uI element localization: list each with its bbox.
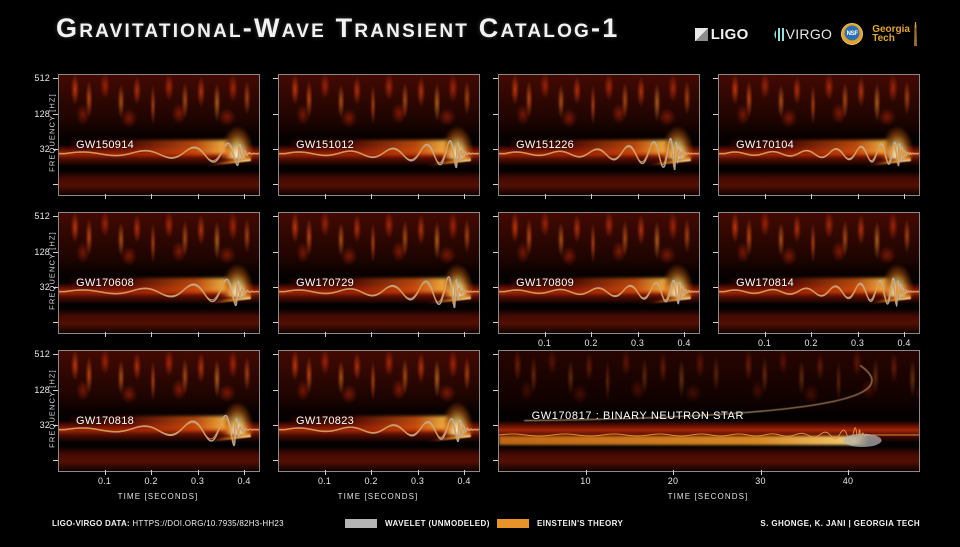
georgia-tech-logo-text: Georgia Tech xyxy=(872,25,910,44)
x-tick-mark xyxy=(244,470,245,475)
y-tick-mark xyxy=(713,78,718,79)
x-tick-label: 0.4 xyxy=(677,338,690,348)
y-tick-mark xyxy=(713,184,718,185)
x-tick-label: 0.1 xyxy=(538,338,551,348)
x-tick-mark xyxy=(371,332,372,337)
x-tick-label: 20 xyxy=(668,476,678,486)
legend-item-wavelet: WAVELET (UNMODELED) xyxy=(345,519,490,528)
x-tick-mark xyxy=(684,194,685,199)
spectrogram-panel-gw150914[interactable]: 51212832GW150914FREQUENCY [HZ] xyxy=(58,74,258,194)
ligo-square-icon xyxy=(695,28,708,41)
x-tick-mark xyxy=(198,194,199,199)
x-tick-mark xyxy=(464,194,465,199)
x-tick-mark xyxy=(545,194,546,199)
legend-label-theory: EINSTEIN'S THEORY xyxy=(537,519,623,528)
x-tick-label: 0.1 xyxy=(318,476,331,486)
y-tick-mark xyxy=(493,354,498,355)
legend-label-wavelet: WAVELET (UNMODELED) xyxy=(385,519,490,528)
spectrogram-panel-gw170104[interactable]: GW170104 xyxy=(718,74,918,194)
y-tick-mark xyxy=(53,460,58,461)
x-tick-mark xyxy=(765,194,766,199)
virgo-logo: VIRGO xyxy=(758,27,833,41)
y-axis-title: FREQUENCY [HZ] xyxy=(48,359,57,459)
plot-area xyxy=(498,212,700,334)
waveform-overlay xyxy=(279,213,479,333)
y-tick-mark xyxy=(713,114,718,115)
event-label: GW170818 xyxy=(76,415,134,427)
x-tick-label: 40 xyxy=(843,476,853,486)
x-tick-mark xyxy=(198,470,199,475)
waveform-overlay xyxy=(719,213,919,333)
y-tick-mark xyxy=(493,149,498,150)
y-tick-mark xyxy=(493,114,498,115)
x-axis-title: TIME [SECONDS] xyxy=(498,492,918,501)
data-credit-url[interactable]: HTTPS://DOI.ORG/10.7935/82H3-HH23 xyxy=(132,519,283,528)
event-label: GW170814 xyxy=(736,277,794,289)
y-tick-mark xyxy=(273,114,278,115)
y-tick-mark xyxy=(713,216,718,217)
x-tick-mark xyxy=(371,194,372,199)
y-tick-mark xyxy=(713,252,718,253)
plot-area xyxy=(278,350,480,472)
spectrogram-panel-gw170809[interactable]: 0.10.20.30.4GW170809 xyxy=(498,212,698,332)
x-tick-mark xyxy=(151,470,152,475)
waveform-overlay xyxy=(499,75,699,195)
georgia-tech-logo: Georgia Tech xyxy=(872,22,918,46)
x-tick-mark xyxy=(673,470,674,475)
y-tick-mark xyxy=(493,425,498,426)
footer: LIGO-VIRGO DATA: HTTPS://DOI.ORG/10.7935… xyxy=(0,506,960,547)
x-tick-label: 0.1 xyxy=(758,338,771,348)
x-tick-mark xyxy=(105,332,106,337)
y-tick-mark xyxy=(273,216,278,217)
y-tick-mark xyxy=(273,390,278,391)
waveform-overlay xyxy=(279,75,479,195)
spectrogram-panel-gw170608[interactable]: 51212832GW170608FREQUENCY [HZ] xyxy=(58,212,258,332)
ligo-logo-text: LIGO xyxy=(711,27,749,42)
plot-area xyxy=(278,212,480,334)
x-tick-mark xyxy=(858,332,859,337)
x-tick-mark xyxy=(151,194,152,199)
y-tick-mark xyxy=(53,216,58,217)
y-tick-mark xyxy=(273,78,278,79)
y-tick-mark xyxy=(273,252,278,253)
x-tick-label: 0.2 xyxy=(584,338,597,348)
x-tick-mark xyxy=(464,332,465,337)
y-tick-mark xyxy=(493,216,498,217)
event-label: GW170608 xyxy=(76,277,134,289)
x-tick-mark xyxy=(105,470,106,475)
event-label: GW170809 xyxy=(516,277,574,289)
plot-area xyxy=(498,74,700,196)
x-tick-mark xyxy=(811,332,812,337)
virgo-waves-icon xyxy=(758,28,784,41)
y-tick-mark xyxy=(493,460,498,461)
waveform-overlay xyxy=(59,75,259,195)
x-tick-mark xyxy=(325,332,326,337)
y-tick-mark xyxy=(493,78,498,79)
waveform-overlay xyxy=(279,351,479,471)
event-label: GW150914 xyxy=(76,139,134,151)
y-tick-mark xyxy=(273,149,278,150)
x-tick-mark xyxy=(591,332,592,337)
x-tick-label: 0.1 xyxy=(98,476,111,486)
x-tick-mark xyxy=(904,332,905,337)
spectrogram-panel-gw170818[interactable]: 512128320.10.20.30.4GW170818FREQUENCY [H… xyxy=(58,350,258,470)
event-label: GW170729 xyxy=(296,277,354,289)
y-tick-mark xyxy=(273,354,278,355)
x-tick-mark xyxy=(371,470,372,475)
legend-item-theory: EINSTEIN'S THEORY xyxy=(497,519,623,528)
x-tick-mark xyxy=(105,194,106,199)
x-axis-title: TIME [SECONDS] xyxy=(58,492,258,501)
event-label: GW170104 xyxy=(736,139,794,151)
y-tick-mark xyxy=(53,184,58,185)
x-tick-mark xyxy=(325,470,326,475)
author-credit: S. GHONGE, K. JANI | GEORGIA TECH xyxy=(760,519,920,528)
spectrogram-panel-gw170823[interactable]: 0.10.20.30.4GW170823TIME [SECONDS] xyxy=(278,350,478,470)
x-tick-mark xyxy=(545,332,546,337)
event-label: GW170817 : BINARY NEUTRON STAR xyxy=(532,410,744,422)
header: Gravitational-Wave Transient Catalog-1 L… xyxy=(0,0,960,62)
plot-area xyxy=(58,212,260,334)
x-tick-mark xyxy=(638,194,639,199)
x-tick-label: 0.3 xyxy=(851,338,864,348)
legend-swatch-theory xyxy=(497,519,529,528)
x-tick-label: 0.2 xyxy=(804,338,817,348)
spectrogram-panel-gw151226[interactable]: GW151226 xyxy=(498,74,698,194)
x-tick-label: 0.3 xyxy=(411,476,424,486)
x-tick-mark xyxy=(638,332,639,337)
spectrogram-grid: 51212832GW150914FREQUENCY [HZ]GW151012GW… xyxy=(0,62,960,506)
x-tick-mark xyxy=(811,194,812,199)
x-tick-label: 0.3 xyxy=(191,476,204,486)
x-tick-mark xyxy=(858,194,859,199)
plot-area xyxy=(58,74,260,196)
x-tick-label: 0.3 xyxy=(631,338,644,348)
y-tick-mark xyxy=(713,149,718,150)
y-tick-mark xyxy=(273,184,278,185)
waveform-overlay xyxy=(719,75,919,195)
x-tick-mark xyxy=(904,194,905,199)
data-credit: LIGO-VIRGO DATA: HTTPS://DOI.ORG/10.7935… xyxy=(52,519,284,528)
y-tick-mark xyxy=(493,322,498,323)
y-tick-mark xyxy=(53,78,58,79)
y-tick-mark xyxy=(273,287,278,288)
x-tick-mark xyxy=(464,470,465,475)
legend-swatch-wavelet xyxy=(345,519,377,528)
y-axis-title: FREQUENCY [HZ] xyxy=(48,221,57,321)
x-tick-mark xyxy=(765,332,766,337)
plot-area xyxy=(718,212,920,334)
y-tick-mark xyxy=(273,425,278,426)
x-tick-label: 0.2 xyxy=(364,476,377,486)
waveform-overlay xyxy=(59,213,259,333)
virgo-logo-text: VIRGO xyxy=(786,27,833,41)
plot-area xyxy=(58,350,260,472)
y-tick-mark xyxy=(493,184,498,185)
y-tick-mark xyxy=(53,354,58,355)
x-tick-label: 0.4 xyxy=(897,338,910,348)
y-tick-mark xyxy=(273,322,278,323)
nsf-logo-text: NSF xyxy=(847,31,858,37)
spectrogram-panel-gw170729[interactable]: GW170729 xyxy=(278,212,478,332)
event-label: GW170823 xyxy=(296,415,354,427)
gt-tower-icon xyxy=(913,22,918,46)
x-tick-mark xyxy=(586,470,587,475)
plot-area xyxy=(718,74,920,196)
y-tick-mark xyxy=(493,287,498,288)
x-tick-mark xyxy=(244,332,245,337)
y-tick-mark xyxy=(53,322,58,323)
gt-line-2: Tech xyxy=(872,33,895,44)
x-tick-mark xyxy=(684,332,685,337)
nsf-logo-icon: NSF xyxy=(841,23,863,45)
y-tick-mark xyxy=(713,322,718,323)
x-tick-mark xyxy=(198,332,199,337)
x-tick-mark xyxy=(418,194,419,199)
y-tick-mark xyxy=(493,390,498,391)
x-tick-mark xyxy=(151,332,152,337)
spectrogram-panel-gw170817[interactable]: 10203040GW170817 : BINARY NEUTRON STARTI… xyxy=(498,350,918,470)
x-tick-label: 0.4 xyxy=(237,476,250,486)
y-tick-mark xyxy=(713,287,718,288)
x-tick-label: 0.2 xyxy=(144,476,157,486)
page-title: Gravitational-Wave Transient Catalog-1 xyxy=(56,13,619,44)
y-axis-title: FREQUENCY [HZ] xyxy=(48,83,57,183)
x-tick-label: 0.4 xyxy=(457,476,470,486)
y-tick-mark xyxy=(493,252,498,253)
waveform-overlay xyxy=(499,213,699,333)
spectrogram-panel-gw170814[interactable]: 0.10.20.30.4GW170814 xyxy=(718,212,918,332)
x-tick-mark xyxy=(591,194,592,199)
x-tick-mark xyxy=(244,194,245,199)
x-tick-label: 30 xyxy=(755,476,765,486)
waveform-wavelet xyxy=(843,434,882,447)
y-tick-mark xyxy=(273,460,278,461)
event-label: GW151012 xyxy=(296,139,354,151)
waveform-overlay xyxy=(59,351,259,471)
x-tick-mark xyxy=(761,470,762,475)
event-label: GW151226 xyxy=(516,139,574,151)
x-tick-mark xyxy=(325,194,326,199)
x-tick-mark xyxy=(418,332,419,337)
spectrogram-panel-gw151012[interactable]: GW151012 xyxy=(278,74,478,194)
ligo-logo: LIGO xyxy=(695,27,749,42)
plot-area xyxy=(278,74,480,196)
x-tick-label: 10 xyxy=(580,476,590,486)
data-credit-prefix: LIGO-VIRGO DATA: xyxy=(52,519,130,528)
x-tick-mark xyxy=(418,470,419,475)
logo-bar: LIGO VIRGO NSF Georgia Tech xyxy=(695,21,918,47)
x-tick-mark xyxy=(848,470,849,475)
x-axis-title: TIME [SECONDS] xyxy=(278,492,478,501)
